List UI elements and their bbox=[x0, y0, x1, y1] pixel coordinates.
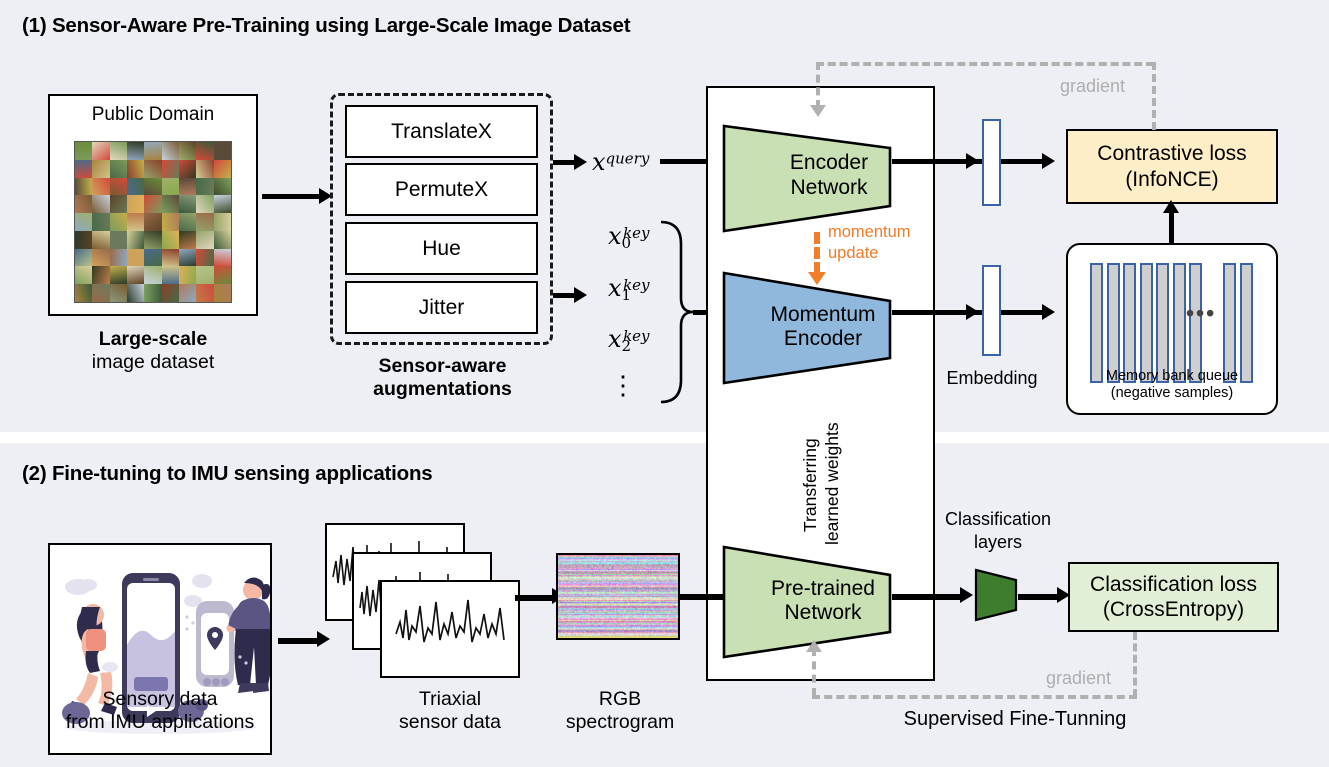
transfer-label-2: learned weights bbox=[822, 422, 844, 545]
dataset-thumbnail bbox=[162, 142, 179, 160]
spectrogram-caption-2: spectrogram bbox=[530, 711, 710, 734]
gradient-bottom-horizontal bbox=[812, 695, 1137, 699]
classification-layers-shape bbox=[974, 566, 1018, 624]
aug-item-jitter[interactable]: Jitter bbox=[345, 281, 538, 334]
dataset-thumbnail bbox=[179, 231, 196, 249]
supervised-finetuning-label: Supervised Fine-Tunning bbox=[830, 708, 1200, 731]
dataset-thumbnail bbox=[75, 213, 92, 231]
classification-layers-label: Classification layers bbox=[938, 508, 1058, 553]
dataset-thumbnail bbox=[196, 142, 213, 160]
dataset-thumbnail bbox=[162, 178, 179, 196]
memory-bank-ellipsis: ••• bbox=[1186, 300, 1216, 327]
dataset-thumbnail bbox=[92, 231, 109, 249]
memory-bank-caption-2: (negative samples) bbox=[1076, 385, 1268, 402]
embedding-to-memory-line bbox=[1001, 310, 1045, 315]
dataset-thumbnail bbox=[179, 160, 196, 178]
dataset-thumbnail bbox=[127, 142, 144, 160]
dataset-thumbnail bbox=[196, 249, 213, 267]
dataset-thumbnail bbox=[162, 249, 179, 267]
memory-to-loss-line bbox=[1169, 208, 1174, 243]
dataset-thumbnail bbox=[110, 249, 127, 267]
gradient-top-arrow-head bbox=[810, 105, 826, 117]
aug-item-permutex[interactable]: PermuteX bbox=[345, 163, 538, 216]
dataset-thumbnail bbox=[127, 178, 144, 196]
x-query-sup: query bbox=[606, 150, 650, 168]
dataset-thumbnail bbox=[162, 160, 179, 178]
arrow-aug-to-key-line bbox=[553, 293, 576, 298]
dataset-thumbnail bbox=[110, 160, 127, 178]
momentum-update-arrow-line bbox=[814, 232, 820, 274]
aug-item-translatex[interactable]: TranslateX bbox=[345, 105, 538, 158]
embedding-to-loss-head bbox=[1042, 153, 1055, 169]
public-domain-image-grid bbox=[74, 141, 232, 303]
dataset-thumbnail bbox=[127, 249, 144, 267]
dataset-thumbnail bbox=[214, 178, 231, 196]
encoder-network-block[interactable]: Encoder Network bbox=[722, 118, 892, 233]
sensory-data-caption-2: from IMU applications bbox=[10, 711, 310, 734]
x-key-1-base: x bbox=[608, 274, 622, 302]
augmentations-caption-rest: augmentations bbox=[373, 378, 512, 400]
key-group-brace bbox=[655, 220, 695, 405]
dataset-thumbnail bbox=[179, 195, 196, 213]
memory-bank-bar bbox=[1156, 263, 1169, 383]
dataset-caption: Large-scale image dataset bbox=[28, 328, 278, 374]
dataset-thumbnail bbox=[127, 266, 144, 284]
arrow-spec-to-network-line bbox=[680, 594, 725, 600]
memory-bank-bar bbox=[1223, 263, 1236, 383]
pretrained-network-label-2: Network bbox=[784, 601, 861, 625]
dataset-thumbnail bbox=[144, 266, 161, 284]
dataset-thumbnail bbox=[127, 284, 144, 302]
arrow-dataset-to-aug-line bbox=[262, 194, 320, 199]
dataset-thumbnail bbox=[179, 284, 196, 302]
dataset-thumbnail bbox=[92, 284, 109, 302]
embedding-bar-key bbox=[982, 265, 1001, 356]
classification-layers-label-2: layers bbox=[938, 531, 1058, 554]
dataset-thumbnail bbox=[92, 178, 109, 196]
dataset-thumbnail bbox=[214, 249, 231, 267]
dataset-thumbnail bbox=[92, 266, 109, 284]
dataset-thumbnail bbox=[144, 178, 161, 196]
momentum-to-embedding-head bbox=[966, 304, 979, 320]
classification-loss-label-1: Classification loss bbox=[1090, 572, 1257, 597]
aug-item-hue[interactable]: Hue bbox=[345, 222, 538, 275]
embedding-bar-query bbox=[982, 119, 1001, 206]
augmentations-caption: Sensor-aware augmentations bbox=[325, 355, 560, 401]
arrow-aug-to-query-line bbox=[553, 160, 576, 165]
dataset-thumbnail bbox=[196, 213, 213, 231]
dataset-thumbnail bbox=[127, 160, 144, 178]
dataset-thumbnail bbox=[179, 213, 196, 231]
gradient-top-label: gradient bbox=[1060, 76, 1125, 97]
x-query-label: xquery bbox=[592, 148, 649, 176]
memory-bank-bar bbox=[1173, 263, 1186, 383]
memory-bank-bar bbox=[1107, 263, 1120, 383]
transfer-learned-weights-label: Transferring bbox=[800, 438, 822, 532]
dataset-thumbnail bbox=[127, 231, 144, 249]
dataset-thumbnail bbox=[214, 160, 231, 178]
memory-bank-bar bbox=[1240, 263, 1253, 383]
dataset-thumbnail bbox=[144, 284, 161, 302]
x-query-base: x bbox=[592, 148, 606, 176]
dataset-thumbnail bbox=[162, 195, 179, 213]
gradient-bottom-label: gradient bbox=[1046, 668, 1111, 689]
dataset-thumbnail bbox=[214, 213, 231, 231]
dataset-thumbnail bbox=[92, 195, 109, 213]
arrow-classlayers-to-loss-line bbox=[1018, 594, 1060, 600]
dataset-thumbnail bbox=[110, 178, 127, 196]
dataset-thumbnail bbox=[196, 178, 213, 196]
dataset-caption-bold: Large-scale bbox=[99, 328, 207, 350]
dataset-thumbnail bbox=[162, 231, 179, 249]
dataset-thumbnail bbox=[110, 231, 127, 249]
momentum-encoder-label-2: Encoder bbox=[784, 327, 862, 351]
sensory-data-caption: Sensory data from IMU applications bbox=[10, 688, 310, 734]
arrow-triaxial-to-spec-line bbox=[515, 595, 555, 601]
dataset-thumbnail bbox=[75, 284, 92, 302]
spectrogram-caption: RGB spectrogram bbox=[530, 688, 710, 734]
dataset-thumbnail bbox=[214, 142, 231, 160]
dataset-thumbnail bbox=[144, 231, 161, 249]
embedding-to-loss-line bbox=[1001, 159, 1045, 164]
x-key-2-base: x bbox=[608, 325, 622, 353]
memory-bank-bar bbox=[1090, 263, 1103, 383]
dataset-thumbnail bbox=[144, 249, 161, 267]
gradient-bottom-arrow-head bbox=[806, 640, 822, 652]
encoder-network-label-1: Encoder bbox=[790, 151, 868, 175]
dataset-thumbnail bbox=[196, 160, 213, 178]
diagram-canvas: (1) Sensor-Aware Pre-Training using Larg… bbox=[0, 0, 1329, 767]
momentum-update-label: momentum update bbox=[828, 222, 911, 263]
encoder-network-label-2: Network bbox=[790, 176, 867, 200]
x-key-1-sup: key bbox=[623, 276, 649, 294]
dataset-thumbnail bbox=[214, 195, 231, 213]
dataset-thumbnail bbox=[75, 266, 92, 284]
dataset-thumbnail bbox=[127, 213, 144, 231]
momentum-encoder-block[interactable]: Momentum Encoder bbox=[722, 268, 892, 386]
dataset-thumbnail bbox=[196, 195, 213, 213]
dataset-thumbnail bbox=[179, 266, 196, 284]
x-key-0-sup: key bbox=[623, 224, 649, 242]
x-key-ellipsis: ⋮ bbox=[608, 378, 638, 394]
gradient-top-vertical bbox=[1152, 62, 1156, 130]
sensory-data-caption-1: Sensory data bbox=[10, 688, 310, 711]
classification-layers-block[interactable] bbox=[974, 566, 1018, 624]
triaxial-plot-front-waveform bbox=[382, 582, 518, 676]
dataset-thumbnail bbox=[75, 178, 92, 196]
memory-bank-bar bbox=[1140, 263, 1153, 383]
embedding-to-memory-head bbox=[1042, 304, 1055, 320]
dataset-thumbnail bbox=[127, 195, 144, 213]
dataset-thumbnail bbox=[179, 178, 196, 196]
dataset-thumbnail bbox=[214, 266, 231, 284]
memory-to-loss-head bbox=[1163, 200, 1179, 213]
momentum-update-label-2: update bbox=[828, 243, 911, 264]
momentum-encoder-label-1: Momentum bbox=[770, 303, 875, 327]
dataset-thumbnail bbox=[92, 249, 109, 267]
dataset-thumbnail bbox=[75, 142, 92, 160]
arrow-network-to-classlayers-head bbox=[960, 587, 973, 603]
dataset-thumbnail bbox=[144, 160, 161, 178]
arrow-aug-to-query-head bbox=[574, 154, 587, 170]
dataset-thumbnail bbox=[162, 266, 179, 284]
dataset-thumbnail bbox=[110, 266, 127, 284]
section-title-pretraining: (1) Sensor-Aware Pre-Training using Larg… bbox=[22, 14, 630, 38]
dataset-thumbnail bbox=[144, 195, 161, 213]
pretrained-network-label-1: Pre-trained bbox=[771, 577, 875, 601]
dataset-caption-rest: image dataset bbox=[92, 351, 215, 373]
momentum-update-label-1: momentum bbox=[828, 222, 911, 243]
dataset-thumbnail bbox=[162, 284, 179, 302]
arrow-sensory-to-triaxial-line bbox=[278, 638, 320, 644]
dataset-thumbnail bbox=[92, 142, 109, 160]
rgb-spectrogram bbox=[556, 553, 680, 640]
arrow-sensory-to-triaxial-head bbox=[317, 631, 330, 647]
dataset-thumbnail bbox=[179, 142, 196, 160]
contrastive-loss-box[interactable]: Contrastive loss (InfoNCE) bbox=[1066, 129, 1278, 204]
gradient-bottom-vertical bbox=[1133, 632, 1137, 697]
contrastive-loss-label-2: (InfoNCE) bbox=[1125, 167, 1218, 192]
encoder-to-embedding-head bbox=[966, 153, 979, 169]
memory-bank-caption: Memory bank queue (negative samples) bbox=[1076, 368, 1268, 403]
dataset-thumbnail bbox=[214, 284, 231, 302]
augmentations-caption-bold: Sensor-aware bbox=[379, 355, 507, 377]
dataset-thumbnail bbox=[75, 231, 92, 249]
dataset-thumbnail bbox=[110, 284, 127, 302]
classification-layers-label-1: Classification bbox=[938, 508, 1058, 531]
dataset-thumbnail bbox=[214, 231, 231, 249]
dataset-thumbnail bbox=[92, 213, 109, 231]
dataset-thumbnail bbox=[110, 195, 127, 213]
transfer-label-1: Transferring bbox=[800, 438, 822, 532]
contrastive-loss-label-1: Contrastive loss bbox=[1097, 141, 1246, 166]
dataset-thumbnail bbox=[196, 231, 213, 249]
dataset-thumbnail bbox=[196, 266, 213, 284]
dataset-thumbnail bbox=[179, 249, 196, 267]
dataset-thumbnail bbox=[75, 160, 92, 178]
dataset-thumbnail bbox=[144, 142, 161, 160]
dataset-thumbnail bbox=[196, 284, 213, 302]
dataset-thumbnail bbox=[75, 195, 92, 213]
section-title-finetuning: (2) Fine-tuning to IMU sensing applicati… bbox=[22, 462, 433, 486]
x-key-2-sup: key bbox=[623, 327, 649, 345]
gradient-top-horizontal bbox=[816, 62, 1154, 66]
dataset-thumbnail bbox=[162, 213, 179, 231]
memory-bank-caption-1: Memory bank queue bbox=[1076, 368, 1268, 385]
momentum-update-arrow-head bbox=[808, 272, 826, 285]
x-key-0-label: x0key bbox=[608, 222, 650, 252]
embedding-label: Embedding bbox=[932, 368, 1052, 390]
x-key-0-base: x bbox=[608, 222, 622, 250]
gradient-bottom-up-line bbox=[812, 648, 816, 696]
classification-loss-box[interactable]: Classification loss (CrossEntropy) bbox=[1068, 562, 1279, 632]
dataset-thumbnail bbox=[92, 160, 109, 178]
memory-bank-bar bbox=[1123, 263, 1136, 383]
arrow-network-to-classlayers-line bbox=[892, 594, 964, 600]
classification-loss-label-2: (CrossEntropy) bbox=[1103, 597, 1244, 622]
dataset-thumbnail bbox=[110, 142, 127, 160]
dataset-thumbnail bbox=[75, 249, 92, 267]
spectrogram-caption-1: RGB bbox=[530, 688, 710, 711]
x-key-1-label: x1key bbox=[608, 274, 650, 304]
dataset-box-label: Public Domain bbox=[48, 104, 258, 126]
dataset-thumbnail bbox=[110, 213, 127, 231]
dataset-thumbnail bbox=[144, 213, 161, 231]
transfer-learned-weights-label-2: learned weights bbox=[822, 422, 844, 545]
x-key-2-label: x2key bbox=[608, 325, 650, 355]
arrow-aug-to-key-head bbox=[574, 287, 587, 303]
gradient-top-down-line bbox=[816, 62, 820, 108]
